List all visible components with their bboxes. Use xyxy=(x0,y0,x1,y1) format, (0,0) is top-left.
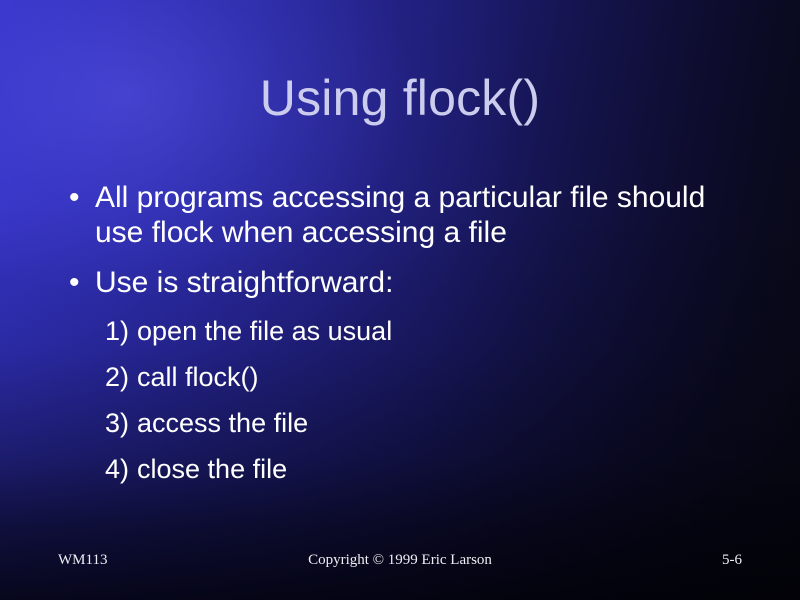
bullet-dot-icon: • xyxy=(58,265,95,300)
bullet-item: • Use is straightforward: xyxy=(58,265,760,300)
list-number-marker: 2) xyxy=(105,362,129,393)
numbered-list: 1) open the file as usual 2) call flock(… xyxy=(58,316,760,485)
numbered-list-item-label: call flock() xyxy=(137,362,259,393)
numbered-list-item: 1) open the file as usual xyxy=(105,316,760,347)
slide-body: • All programs accessing a particular fi… xyxy=(58,180,760,500)
bullet-item: • All programs accessing a particular fi… xyxy=(58,180,760,251)
list-number-marker: 4) xyxy=(105,454,129,485)
list-number-marker: 3) xyxy=(105,408,129,439)
slide-footer: WM113 Copyright © 1999 Eric Larson 5-6 xyxy=(58,550,742,570)
slide-title: Using flock() xyxy=(0,72,800,125)
numbered-list-item-label: access the file xyxy=(137,408,308,439)
numbered-list-item: 3) access the file xyxy=(105,408,760,439)
bullet-item-label: All programs accessing a particular file… xyxy=(95,180,715,251)
numbered-list-item-label: close the file xyxy=(137,454,287,485)
numbered-list-item-label: open the file as usual xyxy=(137,316,392,347)
footer-copyright: Copyright © 1999 Eric Larson xyxy=(58,552,742,569)
bullet-dot-icon: • xyxy=(58,180,95,215)
presentation-slide: Using flock() • All programs accessing a… xyxy=(0,0,800,600)
list-number-marker: 1) xyxy=(105,316,129,347)
bullet-item-label: Use is straightforward: xyxy=(95,265,715,300)
footer-course-code: WM113 xyxy=(58,552,107,569)
numbered-list-item: 4) close the file xyxy=(105,454,760,485)
numbered-list-item: 2) call flock() xyxy=(105,362,760,393)
footer-slide-number: 5-6 xyxy=(722,552,742,569)
slide-content: Using flock() • All programs accessing a… xyxy=(0,0,800,600)
